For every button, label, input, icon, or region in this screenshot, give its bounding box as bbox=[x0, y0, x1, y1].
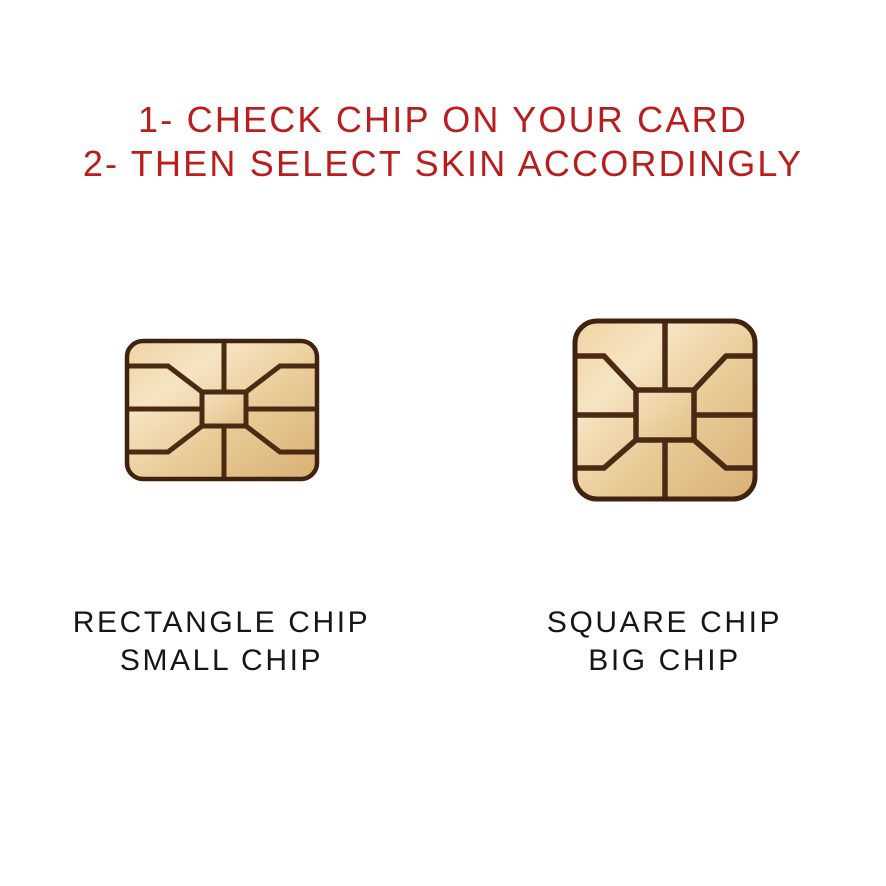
instruction-line-2: 2- THEN SELECT SKIN ACCORDINGLY bbox=[0, 142, 886, 186]
rectangle-chip-caption: RECTANGLE CHIP SMALL CHIP bbox=[0, 604, 443, 680]
rectangle-chip-caption-line-1: RECTANGLE CHIP bbox=[0, 604, 443, 642]
emv-chip-square-icon bbox=[572, 318, 758, 502]
chip-captions-row: RECTANGLE CHIP SMALL CHIP SQUARE CHIP BI… bbox=[0, 604, 886, 704]
chip-comparison-row bbox=[0, 300, 886, 520]
instruction-line-1: 1- CHECK CHIP ON YOUR CARD bbox=[0, 98, 886, 142]
square-chip-option[interactable] bbox=[443, 300, 886, 520]
emv-chip-rectangle-icon bbox=[124, 338, 320, 482]
instructions-heading: 1- CHECK CHIP ON YOUR CARD 2- THEN SELEC… bbox=[0, 98, 886, 186]
rectangle-chip-option[interactable] bbox=[0, 300, 443, 520]
square-chip-caption-line-1: SQUARE CHIP bbox=[443, 604, 886, 642]
rectangle-chip-caption-line-2: SMALL CHIP bbox=[0, 642, 443, 680]
square-chip-caption-line-2: BIG CHIP bbox=[443, 642, 886, 680]
square-chip-caption: SQUARE CHIP BIG CHIP bbox=[443, 604, 886, 680]
